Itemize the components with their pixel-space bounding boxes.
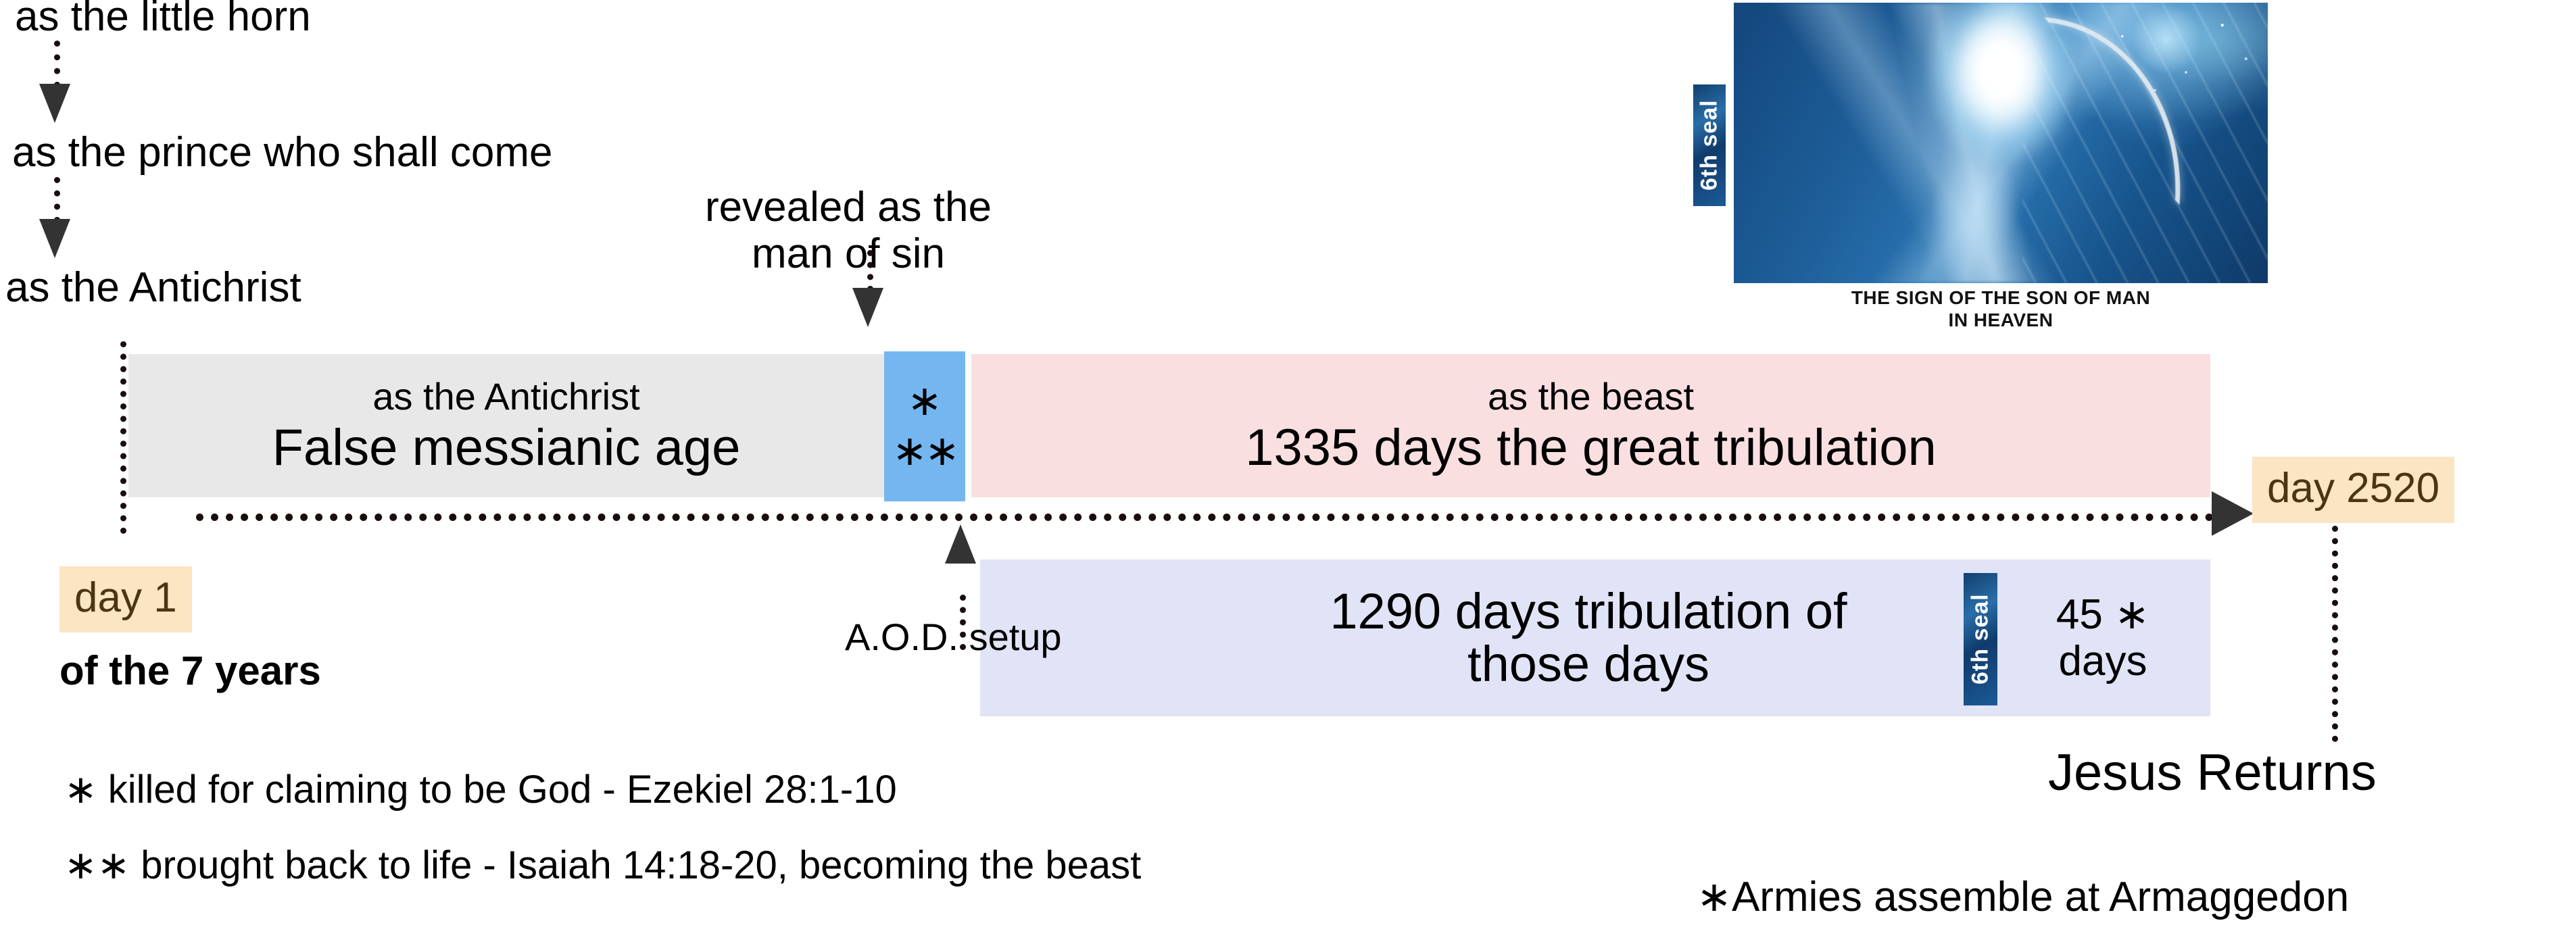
sign-of-son-of-man-figure: THE SIGN OF THE SON OF MAN IN HEAVEN [1734, 3, 2268, 287]
picture-caption: THE SIGN OF THE SON OF MAN IN HEAVEN [1734, 287, 2268, 331]
badge-day-2520: day 2520 [2252, 457, 2454, 523]
chain-label-prince-who-shall-come: as the prince who shall come [12, 130, 553, 174]
arrow-down-icon-2 [39, 219, 70, 258]
timeline-start-marker-line [120, 341, 126, 534]
pink-bar-sublabel: as the beast [1488, 378, 1694, 416]
gray-bar-main-label: False messianic age [272, 422, 741, 474]
chain-label-antichrist: as the Antichrist [5, 266, 301, 309]
blue-bar-line-2: those days [1467, 638, 1709, 691]
timeline-end-marker-line [2332, 526, 2338, 742]
gray-bar-sublabel: as the Antichrist [372, 378, 639, 416]
arrow-down-icon-1 [39, 84, 70, 123]
label-of-the-7-years: of the 7 years [59, 647, 321, 694]
star-single: ∗ [907, 380, 942, 422]
chain-label-little-horn: as the little horn [15, 0, 311, 39]
timeline-bar-1290-days[interactable]: 1290 days tribulation of those days 45 ∗… [980, 559, 2210, 716]
connector-prince-to-antichrist [54, 177, 60, 223]
sixth-seal-tab-timeline: 6th seal [1964, 573, 1997, 705]
connector-man-of-sin-to-bar [867, 250, 873, 292]
sixth-seal-tab-picture: 6th seal [1693, 84, 1726, 206]
blue-bar-tail-line-2: days [2059, 638, 2147, 684]
pink-bar-content: as the beast 1335 days the great tribula… [971, 354, 2210, 497]
arrow-down-icon-3 [852, 288, 883, 327]
footnote-single-star: ∗ killed for claiming to be God - Ezekie… [64, 770, 897, 810]
pink-bar-main-label: 1335 days the great tribulation [1245, 422, 1936, 474]
footnote-armaggedon: ∗Armies assemble at Armaggedon [1697, 872, 2349, 921]
arrow-right-icon-timeline-end [2212, 491, 2254, 536]
revealed-line-1: revealed as the [666, 184, 1031, 230]
aod-setup-label: A.O.D. setup [845, 615, 1062, 659]
sign-of-son-of-man-image [1734, 3, 2268, 283]
label-jesus-returns: Jesus Returns [2048, 743, 2377, 802]
starfield [2086, 3, 2268, 115]
timeline-star-marker-column[interactable]: ∗ ∗∗ [884, 351, 965, 501]
picture-caption-line-2: IN HEAVEN [1734, 309, 2268, 331]
picture-caption-line-1: THE SIGN OF THE SON OF MAN [1734, 287, 2268, 309]
timeline-dotted-axis [196, 514, 2214, 521]
blue-bar-tail-line-1: 45 ∗ [2056, 591, 2149, 638]
badge-day-1: day 1 [59, 566, 192, 632]
footnote-double-star: ∗∗ brought back to life - Isaiah 14:18-2… [64, 846, 1141, 885]
revealed-line-2: man of sin [666, 230, 1031, 277]
star-double: ∗∗ [892, 430, 957, 472]
blue-bar-tail-content: 45 ∗ days [2005, 559, 2201, 716]
blue-bar-line-1: 1290 days tribulation of [1330, 585, 1847, 638]
blue-bar-main-content: 1290 days tribulation of those days [1190, 559, 1987, 716]
connector-little-horn-to-prince [54, 41, 60, 88]
arrow-up-icon-aod [945, 524, 976, 564]
annotation-revealed-as-man-of-sin: revealed as the man of sin [666, 184, 1031, 278]
timeline-bar-great-tribulation[interactable]: as the beast 1335 days the great tribula… [971, 354, 2210, 497]
gray-bar-content: as the Antichrist False messianic age [128, 354, 884, 497]
timeline-bar-false-messianic-age[interactable]: as the Antichrist False messianic age [128, 354, 884, 497]
